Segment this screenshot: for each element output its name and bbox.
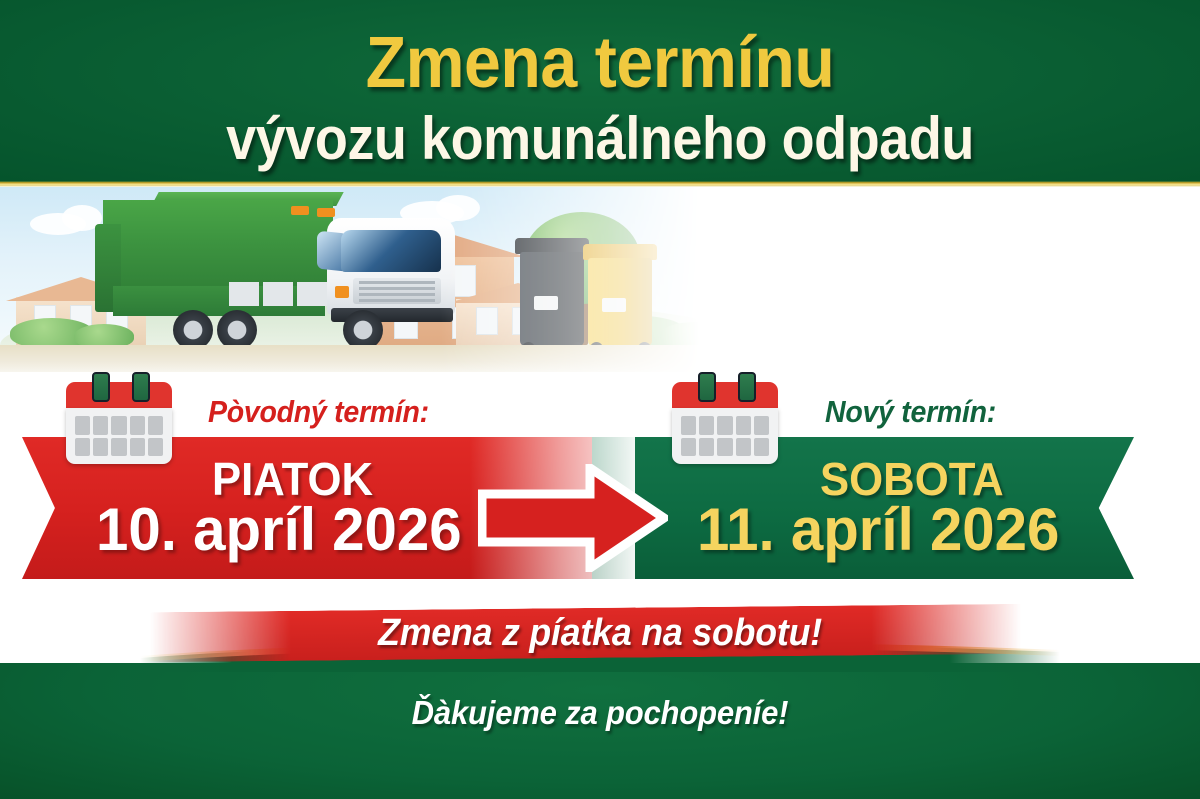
grey-bin <box>518 238 586 348</box>
truck-side-panel <box>229 282 259 306</box>
calendar-ring <box>738 372 756 402</box>
truck-windshield <box>341 230 441 272</box>
truck-marker-light <box>291 206 309 215</box>
ground <box>0 345 760 372</box>
truck-wheel <box>217 310 257 350</box>
thank-you-text: Ďàkujeme za pochopeníe! <box>36 694 1164 732</box>
truck-side-panel <box>263 282 293 306</box>
illustration-area <box>0 187 1200 372</box>
truck-wheel <box>173 310 213 350</box>
page-title: Zmena termínu <box>48 22 1152 104</box>
calendar-ring <box>132 372 150 402</box>
dates-section: Pòvodný termín: PIATOK 10. apríl 2026 No… <box>0 372 1200 600</box>
old-date-label: Pòvodný termín: <box>208 394 429 430</box>
calendar-ring <box>92 372 110 402</box>
old-date-value: 10. apríl 2026 <box>96 495 462 564</box>
calendar-icon <box>672 372 778 464</box>
calendar-day-grid <box>681 416 769 456</box>
calendar-icon <box>66 372 172 464</box>
truck-side-panel <box>297 282 327 306</box>
poster-root: Zmena termínu vývozu komunálneho odpadu <box>0 0 1200 799</box>
new-date-label: Nový termín: <box>825 394 996 430</box>
bin-handle <box>602 298 626 312</box>
calendar-day-grid <box>75 416 163 456</box>
truck-indicator-light <box>335 286 349 298</box>
calendar-ring <box>698 372 716 402</box>
bin-handle <box>534 296 558 310</box>
truck-marker-light <box>317 208 335 217</box>
truck-grille <box>353 278 441 304</box>
truck-wheel <box>343 310 383 350</box>
truck-skirt <box>113 286 325 316</box>
new-date-value: 11. apríl 2026 <box>697 495 1059 564</box>
garbage-truck-icon <box>95 190 525 350</box>
street-scene <box>0 187 760 372</box>
page-subtitle: vývozu komunálneho odpadu <box>60 104 1140 173</box>
right-arrow-icon <box>478 464 668 572</box>
change-banner-text: Zmena z píatka na sobotu! <box>36 612 1164 655</box>
yellow-bin <box>586 244 654 348</box>
